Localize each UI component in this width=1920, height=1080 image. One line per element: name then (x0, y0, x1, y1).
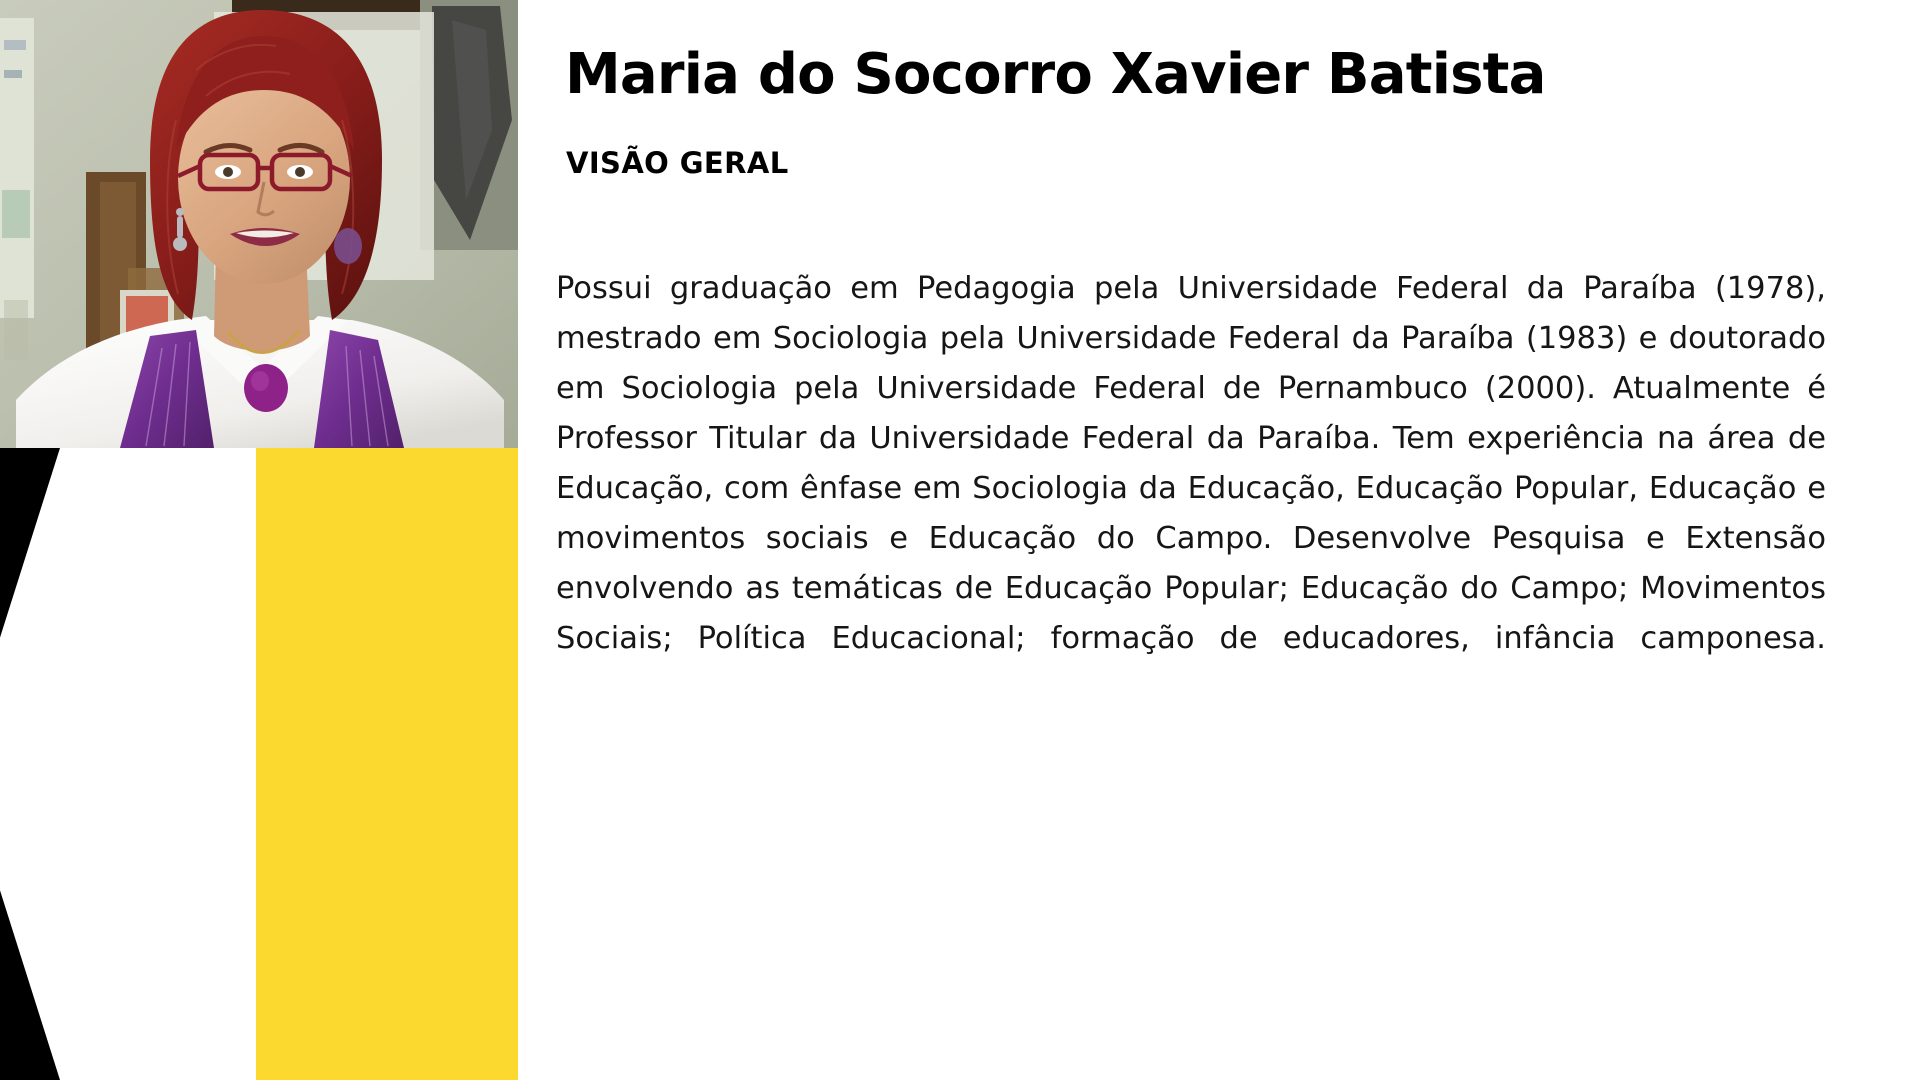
section-heading-overview: VISÃO GERAL (566, 148, 789, 178)
white-chevron-icon (0, 448, 256, 1080)
portrait-photo (0, 0, 518, 448)
overview-paragraph: Possui graduação em Pedagogia pela Unive… (556, 264, 1826, 714)
slide-root: Maria do Socorro Xavier Batista VISÃO GE… (0, 0, 1920, 1080)
page-title: Maria do Socorro Xavier Batista (565, 46, 1546, 104)
yellow-block (256, 448, 518, 1080)
left-graphic-column (0, 0, 518, 1080)
content-column: Maria do Socorro Xavier Batista VISÃO GE… (556, 0, 1818, 1080)
decorative-geometry (0, 448, 518, 1080)
